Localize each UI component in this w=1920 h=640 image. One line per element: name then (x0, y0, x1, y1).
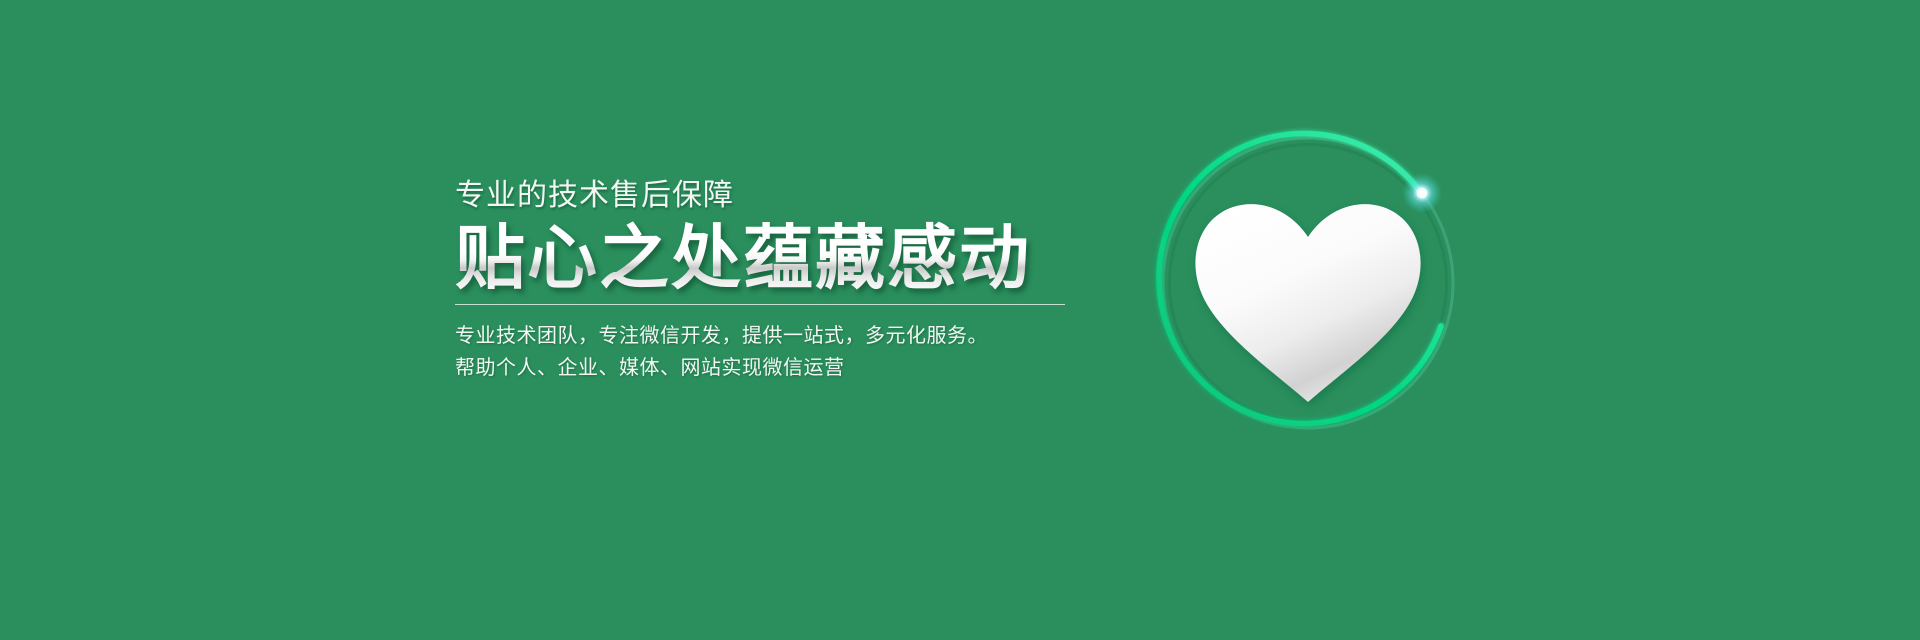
hero-body-line-1: 专业技术团队，专注微信开发，提供一站式，多元化服务。 (455, 319, 1215, 351)
hero-body-line-2: 帮助个人、企业、媒体、网站实现微信运营 (455, 351, 1215, 383)
glow-dot-center (1420, 191, 1425, 196)
hero-text-block: 专业的技术售后保障 贴心之处蕴藏感动 专业技术团队，专注微信开发，提供一站式，多… (455, 178, 1215, 384)
heart-emblem (1155, 130, 1461, 436)
hero-eyebrow: 专业的技术售后保障 (455, 178, 1215, 213)
hero-headline: 贴心之处蕴藏感动 (455, 219, 1215, 297)
heart-emblem-svg (1155, 130, 1461, 436)
hero-banner: 专业的技术售后保障 贴心之处蕴藏感动 专业技术团队，专注微信开发，提供一站式，多… (0, 0, 1920, 640)
headline-divider (455, 304, 1065, 305)
hero-body-copy: 专业技术团队，专注微信开发，提供一站式，多元化服务。 帮助个人、企业、媒体、网站… (455, 319, 1215, 384)
heart-shape (1195, 204, 1420, 402)
